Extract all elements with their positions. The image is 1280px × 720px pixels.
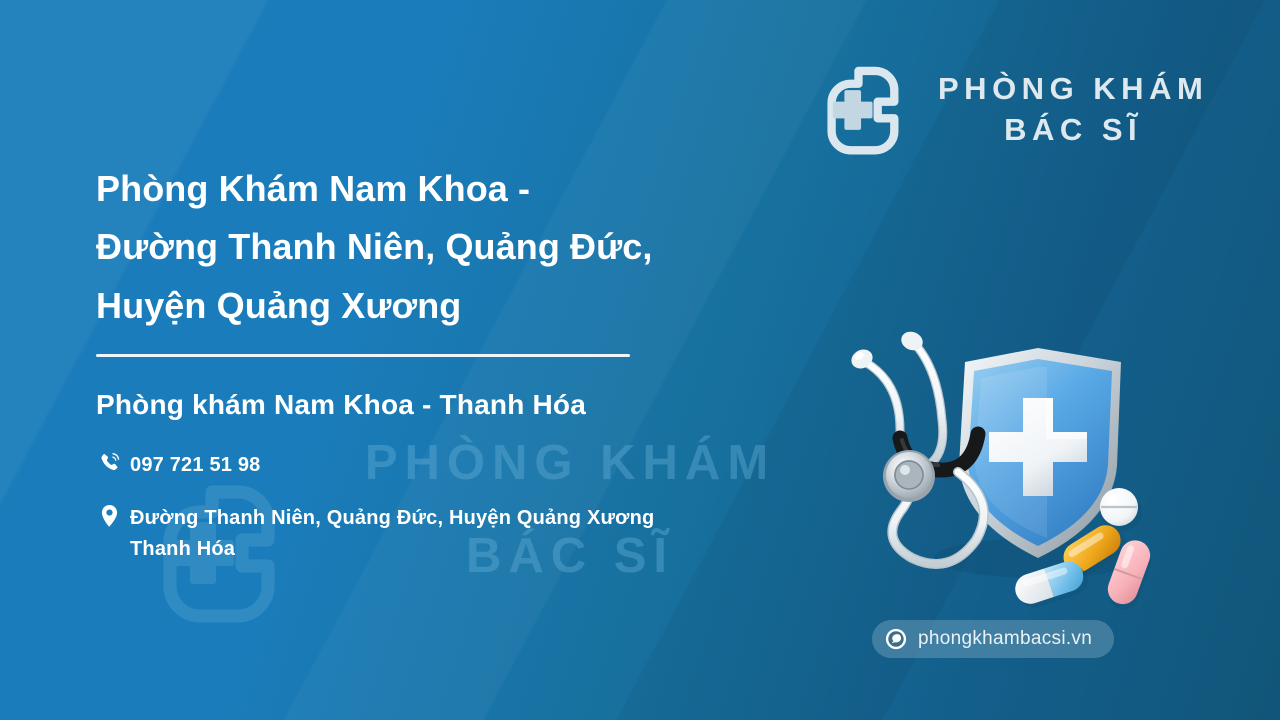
page-title-line-2: Đường Thanh Niên, Quảng Đức, bbox=[96, 218, 856, 276]
title-divider bbox=[96, 354, 630, 357]
page-title: Phòng Khám Nam Khoa - Đường Thanh Niên, … bbox=[96, 160, 856, 335]
address-text: Đường Thanh Niên, Quảng Đức, Huyện Quảng… bbox=[122, 503, 654, 565]
website-url: phongkhambacsi.vn bbox=[918, 628, 1092, 650]
page-title-line-3: Huyện Quảng Xương bbox=[96, 277, 856, 335]
medical-shield-stethoscope-pills-illustration bbox=[838, 326, 1188, 616]
contact-block: 097 721 51 98 Đường Thanh Niên, Quảng Đứ… bbox=[96, 450, 816, 565]
globe-icon bbox=[885, 628, 907, 650]
clinic-subtitle: Phòng khám Nam Khoa - Thanh Hóa bbox=[96, 389, 586, 421]
phone-number: 097 721 51 98 bbox=[122, 450, 261, 481]
website-badge[interactable]: phongkhambacsi.vn bbox=[872, 620, 1114, 658]
clinic-banner: PHÒNG KHÁM BÁC SĨ Phòng Khám Nam Khoa - … bbox=[0, 0, 1280, 720]
brand-text: PHÒNG KHÁM BÁC SĨ bbox=[938, 72, 1208, 147]
address-line-2: Thanh Hóa bbox=[130, 534, 654, 565]
page-title-line-1: Phòng Khám Nam Khoa - bbox=[96, 160, 856, 218]
medical-cross-heart-icon bbox=[818, 62, 922, 158]
brand-line-1: PHÒNG KHÁM bbox=[938, 72, 1208, 107]
brand-line-2: BÁC SĨ bbox=[938, 113, 1208, 148]
address-row: Đường Thanh Niên, Quảng Đức, Huyện Quảng… bbox=[96, 503, 816, 565]
brand-logo: PHÒNG KHÁM BÁC SĨ bbox=[818, 62, 1208, 158]
address-line-1: Đường Thanh Niên, Quảng Đức, Huyện Quảng… bbox=[130, 507, 654, 529]
phone-row[interactable]: 097 721 51 98 bbox=[96, 450, 816, 481]
phone-ringing-icon bbox=[96, 450, 122, 473]
map-pin-icon bbox=[96, 503, 122, 527]
